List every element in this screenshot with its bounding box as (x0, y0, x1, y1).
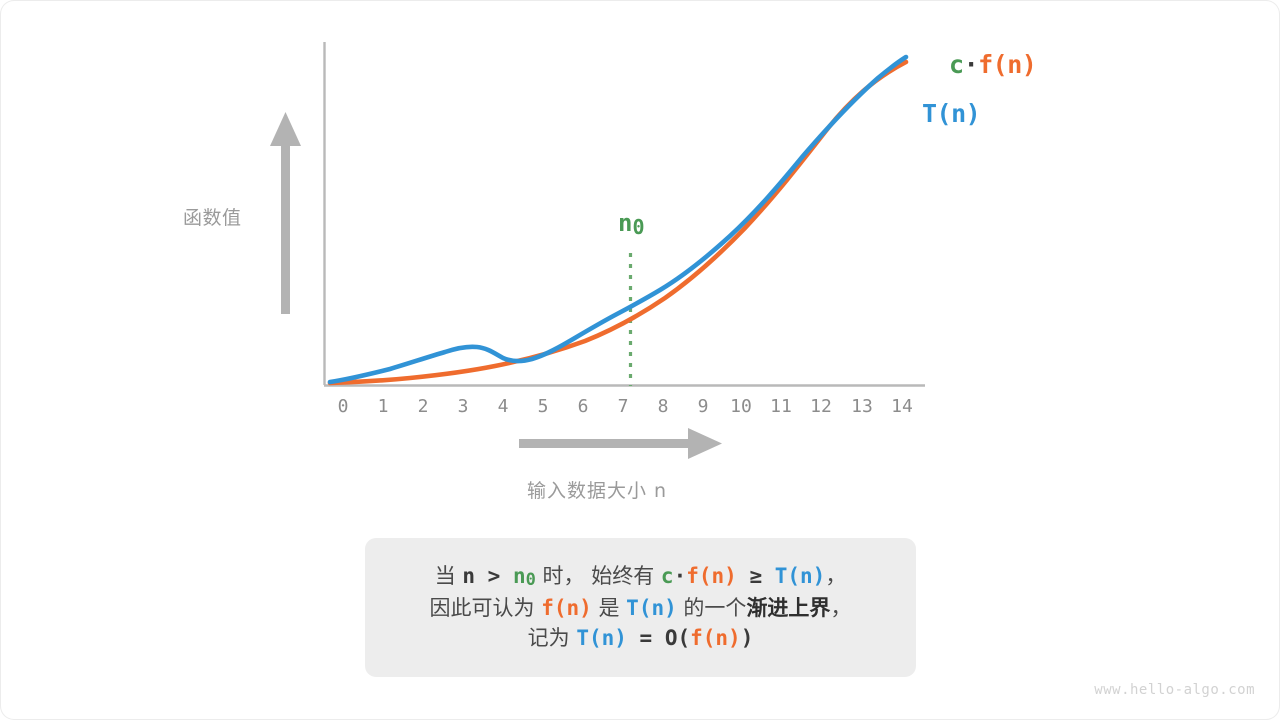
c2-p3: 的一个 (677, 596, 747, 620)
tick-label-3: 3 (448, 396, 478, 417)
c1-n: n (462, 564, 475, 588)
c2-p1: 因此可认为 (430, 596, 542, 620)
tick-label-2: 2 (408, 396, 438, 417)
tick-label-12: 12 (806, 396, 836, 417)
c3-tn: T(n) (576, 626, 627, 650)
legend-c: c (949, 50, 964, 79)
tick-label-10: 10 (726, 396, 756, 417)
caption-line-3: 记为 T(n) = O(f(n)) (528, 627, 754, 650)
tick-label-9: 9 (688, 396, 718, 417)
c1-p1: 当 (435, 564, 463, 588)
x-direction-arrow (519, 428, 722, 459)
tick-label-7: 7 (608, 396, 638, 417)
c3-eq: = (627, 626, 665, 650)
c3-close: ) (741, 626, 754, 650)
tick-label-11: 11 (766, 396, 796, 417)
watermark-url: www.hello-algo.com (1094, 682, 1255, 698)
tick-label-13: 13 (847, 396, 877, 417)
y-axis-caption: 函数值 (183, 203, 242, 230)
tick-label-5: 5 (528, 396, 558, 417)
tick-label-8: 8 (648, 396, 678, 417)
n0-marker-label: n0 (618, 209, 645, 239)
caption-line-2: 因此可认为 f(n) 是 T(n) 的一个渐进上界， (430, 597, 852, 620)
legend-dot: · (964, 50, 979, 79)
caption-panel: 当 n > n0 时， 始终有 c·f(n) ≥ T(n)， 因此可认为 f(n… (365, 538, 916, 677)
tick-label-4: 4 (488, 396, 518, 417)
y-direction-arrow (270, 112, 301, 314)
c1-c: c (661, 564, 674, 588)
c1-ge: ≥ (737, 564, 775, 588)
c3-fn: f(n) (690, 626, 741, 650)
c2-tn: T(n) (626, 596, 677, 620)
tick-label-6: 6 (568, 396, 598, 417)
c1-fn: f(n) (686, 564, 737, 588)
tick-label-1: 1 (368, 396, 398, 417)
c3-obig: O( (665, 626, 690, 650)
c1-tn: T(n) (775, 564, 826, 588)
caption-line-1: 当 n > n0 时， 始终有 c·f(n) ≥ T(n)， (435, 565, 847, 590)
legend-tn-text: T(n) (922, 99, 980, 128)
figure-frame: 函数值 输入数据大小 n 0 1 2 3 4 5 6 7 8 9 10 11 1… (0, 0, 1280, 720)
legend-label-c-fn: c·f(n) (949, 50, 1036, 79)
c1-n0-sub: 0 (526, 570, 536, 590)
legend-fn: f(n) (978, 50, 1036, 79)
c1-p2: 时， 始终有 (536, 564, 661, 588)
n0-subscript: 0 (632, 215, 644, 239)
c2-fn: f(n) (541, 596, 592, 620)
x-axis-caption: 输入数据大小 n (527, 476, 667, 503)
c2-p2: 是 (592, 596, 626, 620)
tick-label-14: 14 (887, 396, 917, 417)
c2-bold-term: 渐进上界 (746, 596, 830, 620)
c3-p1: 记为 (528, 626, 577, 650)
tick-label-0: 0 (328, 396, 358, 417)
n0-base: n (618, 209, 632, 237)
c1-gt: > (475, 564, 513, 588)
c1-comma: ， (825, 564, 846, 588)
legend-label-tn: T(n) (922, 99, 980, 128)
c1-dot: · (674, 564, 687, 588)
c1-n0: n (513, 564, 526, 588)
c2-comma: ， (830, 596, 851, 620)
